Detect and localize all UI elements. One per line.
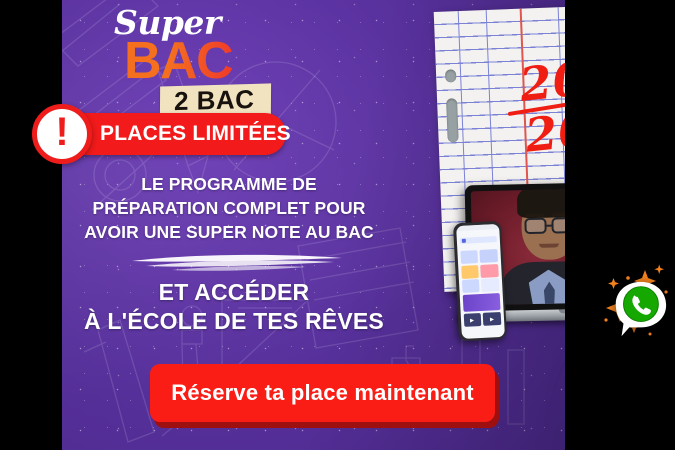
subheadline-line-1: ET ACCÉDER bbox=[64, 278, 404, 307]
exclamation-glyph: ! bbox=[55, 112, 68, 152]
grade-mark: 20 20 bbox=[495, 54, 565, 161]
headline-line-3: AVOIR UNE SUPER NOTE AU BAC bbox=[64, 220, 394, 244]
subheadline-block: ET ACCÉDER À L'ÉCOLE DE TES RÊVES bbox=[64, 278, 404, 337]
presenter-left-brow bbox=[525, 214, 544, 217]
phone-status-bar bbox=[456, 223, 499, 230]
level-badge-label: 2 BAC bbox=[174, 86, 255, 116]
phone-subject-card bbox=[481, 278, 499, 292]
phone-mockup bbox=[453, 221, 507, 341]
punch-hole bbox=[445, 69, 456, 82]
presenter-left-glasses-lens bbox=[524, 218, 546, 234]
presenter-left-mouth bbox=[539, 243, 559, 247]
presenter-left-glasses-bridge bbox=[547, 225, 552, 227]
punch-hole bbox=[446, 98, 459, 142]
phone-video-row bbox=[463, 312, 501, 327]
laptop-hinge-notch bbox=[559, 309, 565, 314]
phone-video-thumb bbox=[482, 312, 500, 326]
ad-banner: 20 20 bbox=[0, 0, 675, 450]
urgency-banner-label: PLACES LIMITÉES bbox=[100, 122, 291, 146]
cta-area: Réserve ta place maintenant bbox=[150, 364, 495, 422]
phone-promo-banner bbox=[462, 293, 500, 312]
brand-word-bac: BAC bbox=[100, 39, 300, 85]
phone-subject-card bbox=[461, 279, 479, 293]
phone-app-screen bbox=[456, 223, 505, 338]
presenter-left-brow bbox=[552, 213, 565, 216]
headline-line-2: PRÉPARATION COMPLET POUR bbox=[64, 196, 394, 220]
brand-logo: Super BAC bbox=[100, 6, 300, 85]
phone-app-notice bbox=[460, 243, 497, 249]
headline-block: LE PROGRAMME DE PRÉPARATION COMPLET POUR… bbox=[64, 172, 394, 244]
phone-subject-card bbox=[479, 249, 497, 263]
subheadline-line-2: À L'ÉCOLE DE TES RÊVES bbox=[64, 307, 404, 336]
reserve-place-button[interactable]: Réserve ta place maintenant bbox=[150, 364, 495, 422]
headline-line-1: LE PROGRAMME DE bbox=[64, 172, 394, 196]
phone-subject-card bbox=[480, 264, 498, 278]
phone-subject-grid bbox=[460, 249, 499, 293]
exclamation-icon: ! bbox=[32, 104, 92, 164]
phone-video-thumb bbox=[463, 313, 481, 327]
phone-subject-card bbox=[460, 250, 478, 264]
presenter-left-glasses-lens bbox=[551, 217, 565, 233]
phone-chip-icon bbox=[461, 238, 465, 242]
phone-subject-card bbox=[461, 265, 479, 279]
whatsapp-icon[interactable] bbox=[608, 277, 670, 339]
